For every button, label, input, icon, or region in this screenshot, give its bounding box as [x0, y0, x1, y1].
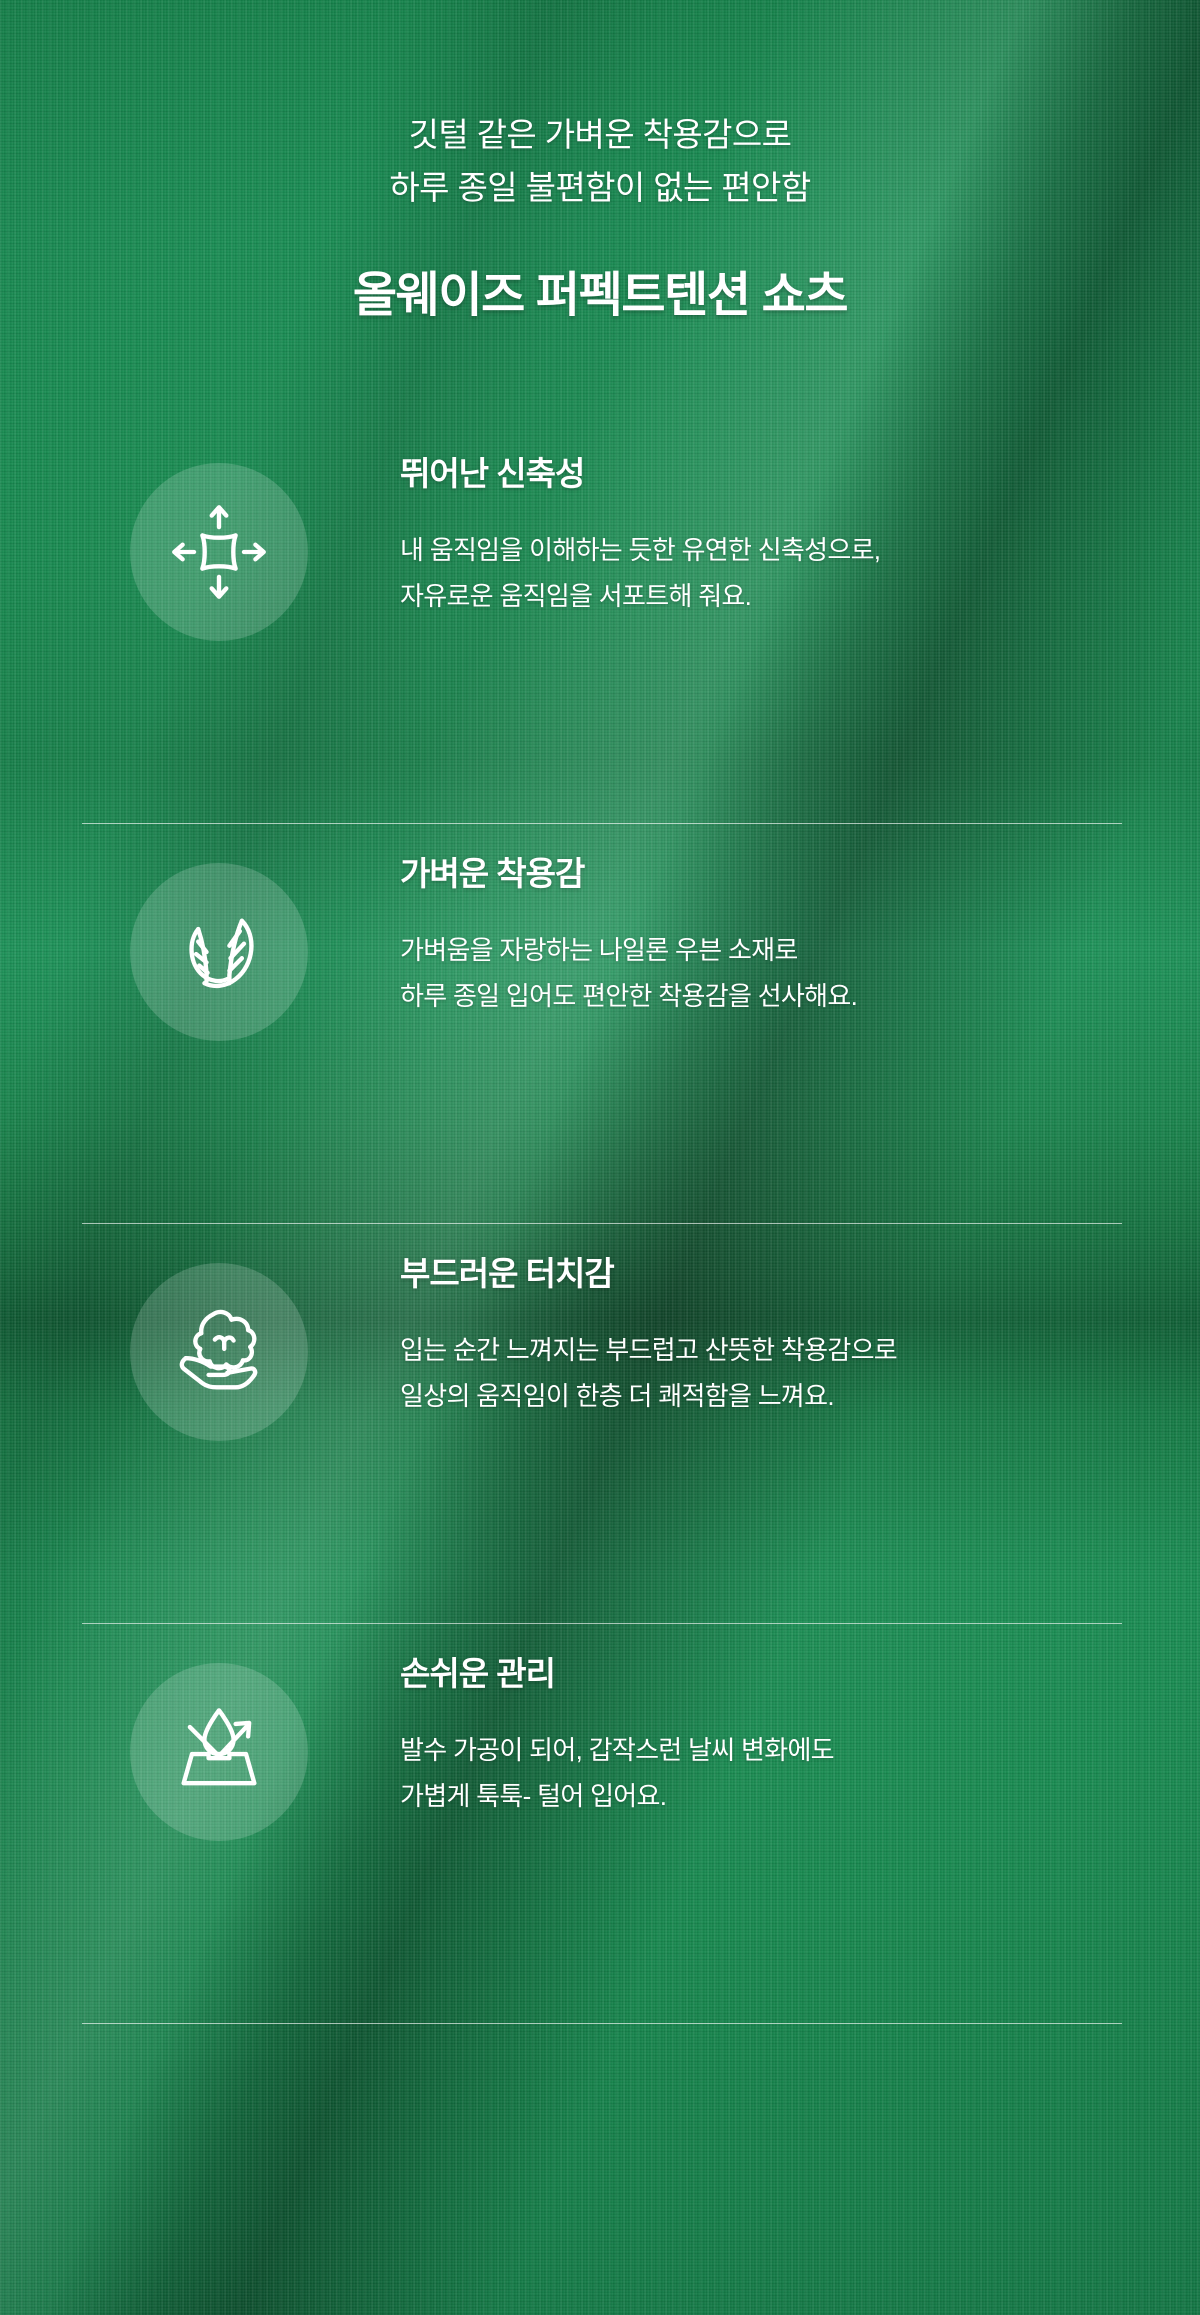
product-detail-page: 깃털 같은 가벼운 착용감으로 하루 종일 불편함이 없는 편안함 올웨이즈 퍼…	[0, 0, 1200, 2315]
feature-block-1: 뛰어난 신축성 내 움직임을 이해하는 듯한 유연한 신축성으로, 자유로운 움…	[0, 423, 1200, 823]
feature-description-line-1: 가벼움을 자랑하는 나일론 우븐 소재로	[400, 927, 857, 973]
feature-item: 뛰어난 신축성 내 움직임을 이해하는 듯한 유연한 신축성으로, 자유로운 움…	[0, 423, 1200, 823]
feature-description: 발수 가공이 되어, 갑작스런 날씨 변화에도 가볍게 툭툭- 털어 입어요.	[400, 1727, 834, 1820]
feature-icon-circle	[130, 863, 308, 1041]
feature-title: 손쉬운 관리	[400, 1647, 834, 1695]
feature-title: 가벼운 착용감	[400, 847, 857, 895]
feature-description-line-1: 내 움직임을 이해하는 듯한 유연한 신축성으로,	[400, 527, 880, 573]
feature-icon-circle	[130, 1263, 308, 1441]
feature-description: 입는 순간 느껴지는 부드럽고 산뜻한 착용감으로 일상의 움직임이 한층 더 …	[400, 1327, 897, 1420]
water-repellent-icon	[167, 1700, 271, 1804]
feature-block-3: 부드러운 터치감 입는 순간 느껴지는 부드럽고 산뜻한 착용감으로 일상의 움…	[0, 1223, 1200, 1623]
feature-item: 부드러운 터치감 입는 순간 느껴지는 부드럽고 산뜻한 착용감으로 일상의 움…	[0, 1223, 1200, 1623]
feature-icon-circle	[130, 463, 308, 641]
feature-description-line-2: 일상의 움직임이 한층 더 쾌적함을 느껴요.	[400, 1373, 897, 1419]
cotton-on-hand-icon	[167, 1300, 271, 1404]
feature-text: 가벼운 착용감 가벼움을 자랑하는 나일론 우븐 소재로 하루 종일 입어도 편…	[400, 823, 857, 1020]
hero-subheadline-line-1: 깃털 같은 가벼운 착용감으로	[0, 108, 1200, 161]
product-title: 올웨이즈 퍼펙트텐션 쇼츠	[0, 255, 1200, 325]
hero-section: 깃털 같은 가벼운 착용감으로 하루 종일 불편함이 없는 편안함 올웨이즈 퍼…	[0, 0, 1200, 325]
page-content: 깃털 같은 가벼운 착용감으로 하루 종일 불편함이 없는 편안함 올웨이즈 퍼…	[0, 0, 1200, 2023]
feature-block-2: 가벼운 착용감 가벼움을 자랑하는 나일론 우븐 소재로 하루 종일 입어도 편…	[0, 823, 1200, 1223]
feature-text: 손쉬운 관리 발수 가공이 되어, 갑작스런 날씨 변화에도 가볍게 툭툭- 털…	[400, 1623, 834, 1820]
hero-subheadline-line-2: 하루 종일 불편함이 없는 편안함	[0, 161, 1200, 214]
feather-icon	[167, 900, 271, 1004]
feature-description-line-2: 하루 종일 입어도 편안한 착용감을 선사해요.	[400, 973, 857, 1019]
feature-item: 손쉬운 관리 발수 가공이 되어, 갑작스런 날씨 변화에도 가볍게 툭툭- 털…	[0, 1623, 1200, 2023]
stretch-arrows-icon	[167, 500, 271, 604]
feature-block-4: 손쉬운 관리 발수 가공이 되어, 갑작스런 날씨 변화에도 가볍게 툭툭- 털…	[0, 1623, 1200, 2023]
feature-item: 가벼운 착용감 가벼움을 자랑하는 나일론 우븐 소재로 하루 종일 입어도 편…	[0, 823, 1200, 1223]
feature-description-line-2: 가볍게 툭툭- 털어 입어요.	[400, 1773, 834, 1819]
feature-text: 부드러운 터치감 입는 순간 느껴지는 부드럽고 산뜻한 착용감으로 일상의 움…	[400, 1223, 897, 1420]
feature-title: 부드러운 터치감	[400, 1247, 897, 1295]
feature-title: 뛰어난 신축성	[400, 447, 880, 495]
feature-list: 뛰어난 신축성 내 움직임을 이해하는 듯한 유연한 신축성으로, 자유로운 움…	[0, 423, 1200, 2023]
feature-description: 가벼움을 자랑하는 나일론 우븐 소재로 하루 종일 입어도 편안한 착용감을 …	[400, 927, 857, 1020]
feature-description-line-1: 발수 가공이 되어, 갑작스런 날씨 변화에도	[400, 1727, 834, 1773]
feature-description-line-2: 자유로운 움직임을 서포트해 줘요.	[400, 573, 880, 619]
feature-description-line-1: 입는 순간 느껴지는 부드럽고 산뜻한 착용감으로	[400, 1327, 897, 1373]
hero-subheadline: 깃털 같은 가벼운 착용감으로 하루 종일 불편함이 없는 편안함	[0, 108, 1200, 215]
feature-divider-last	[82, 2023, 1122, 2024]
feature-icon-circle	[130, 1663, 308, 1841]
feature-text: 뛰어난 신축성 내 움직임을 이해하는 듯한 유연한 신축성으로, 자유로운 움…	[400, 423, 880, 620]
feature-description: 내 움직임을 이해하는 듯한 유연한 신축성으로, 자유로운 움직임을 서포트해…	[400, 527, 880, 620]
